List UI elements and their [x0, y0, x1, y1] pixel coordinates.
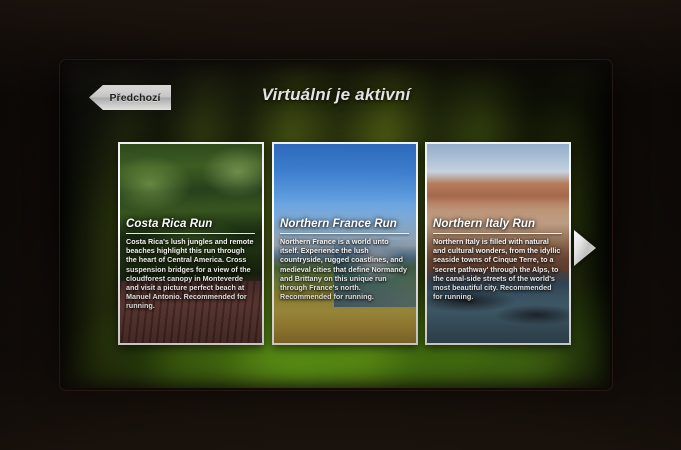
card-overlay: Northern Italy Run Northern Italy is fil…	[427, 218, 569, 301]
previous-button[interactable]: Předchozí	[89, 85, 171, 110]
previous-button-label: Předchozí	[109, 92, 160, 104]
device-bezel: Předchozí Virtuální je aktivní Costa Ric…	[0, 0, 681, 450]
card-description: Northern France is a world unto itself. …	[280, 237, 409, 301]
next-arrow-icon[interactable]	[574, 230, 596, 266]
card-description: Costa Rica's lush jungles and remote bea…	[126, 237, 255, 311]
card-divider	[433, 233, 562, 234]
card-title: Northern France Run	[280, 218, 409, 232]
card-divider	[280, 233, 409, 234]
card-description: Northern Italy is filled with natural an…	[433, 237, 562, 301]
run-card-northern-italy[interactable]: Northern Italy Run Northern Italy is fil…	[425, 142, 571, 345]
header: Předchozí Virtuální je aktivní	[62, 62, 610, 118]
card-overlay: Costa Rica Run Costa Rica's lush jungles…	[120, 218, 262, 311]
screen: Předchozí Virtuální je aktivní Costa Ric…	[62, 62, 610, 388]
card-overlay: Northern France Run Northern France is a…	[274, 218, 416, 301]
card-row: Costa Rica Run Costa Rica's lush jungles…	[62, 142, 610, 352]
card-title: Costa Rica Run	[126, 218, 255, 232]
card-title: Northern Italy Run	[433, 218, 562, 232]
triangle-right-icon	[574, 230, 596, 266]
card-divider	[126, 233, 255, 234]
run-card-costa-rica[interactable]: Costa Rica Run Costa Rica's lush jungles…	[118, 142, 264, 345]
run-card-northern-france[interactable]: Northern France Run Northern France is a…	[272, 142, 418, 345]
